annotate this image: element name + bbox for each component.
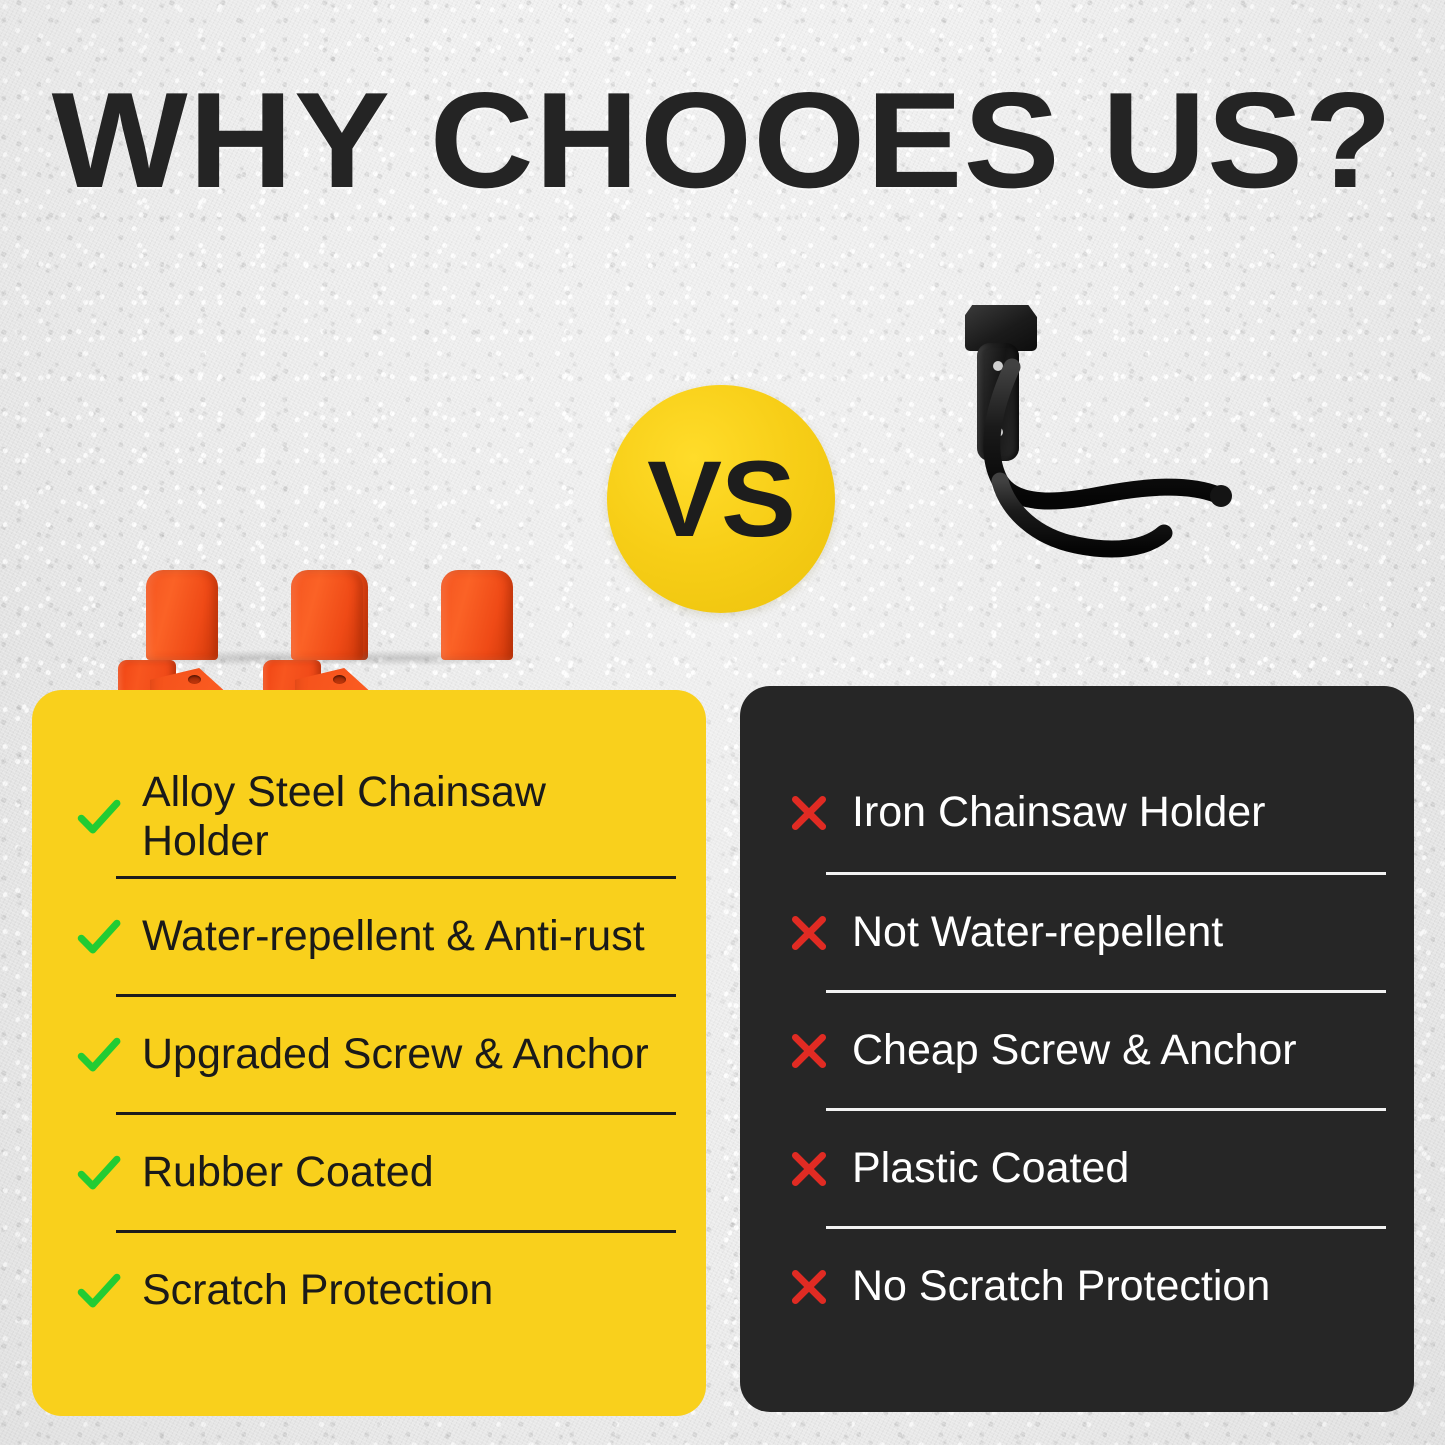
list-item: Plastic Coated bbox=[826, 1108, 1386, 1226]
list-item: Scratch Protection bbox=[116, 1230, 676, 1348]
list-item: Not Water-repellent bbox=[826, 872, 1386, 990]
check-icon bbox=[74, 792, 124, 842]
black-wire-hook bbox=[950, 305, 1270, 605]
vs-label: VS bbox=[647, 445, 795, 553]
list-item-label: Cheap Screw & Anchor bbox=[852, 1026, 1386, 1075]
check-icon bbox=[74, 1266, 124, 1316]
infographic-canvas: WHY CHOOES US? bbox=[0, 0, 1445, 1445]
list-item: Alloy Steel Chainsaw Holder bbox=[56, 758, 676, 876]
list-item: Upgraded Screw & Anchor bbox=[116, 994, 676, 1112]
list-item-label: Rubber Coated bbox=[142, 1148, 676, 1197]
mark-cell bbox=[766, 911, 852, 955]
cross-icon bbox=[787, 1029, 831, 1073]
cons-feature-list: Iron Chainsaw Holder Not Water-repellent… bbox=[766, 754, 1386, 1344]
list-item: Rubber Coated bbox=[116, 1112, 676, 1230]
check-icon bbox=[74, 912, 124, 962]
bracket-screw-hole bbox=[333, 675, 346, 684]
mark-cell bbox=[766, 791, 852, 835]
list-item-label: Scratch Protection bbox=[142, 1266, 676, 1315]
mark-cell bbox=[766, 1029, 852, 1073]
cross-icon bbox=[787, 791, 831, 835]
cross-icon bbox=[787, 911, 831, 955]
mark-cell bbox=[56, 1266, 142, 1316]
list-item: Water-repellent & Anti-rust bbox=[116, 876, 676, 994]
list-item: Cheap Screw & Anchor bbox=[826, 990, 1386, 1108]
list-item-label: Upgraded Screw & Anchor bbox=[142, 1030, 676, 1079]
mark-cell bbox=[56, 1030, 142, 1080]
list-item-label: Alloy Steel Chainsaw Holder bbox=[142, 768, 676, 866]
pros-panel: Alloy Steel Chainsaw Holder Water-repell… bbox=[32, 690, 706, 1416]
mark-cell bbox=[56, 792, 142, 842]
bracket-rubber-foot bbox=[146, 570, 218, 660]
list-item: Iron Chainsaw Holder bbox=[766, 754, 1386, 872]
pros-feature-list: Alloy Steel Chainsaw Holder Water-repell… bbox=[56, 758, 676, 1348]
cons-panel: Iron Chainsaw Holder Not Water-repellent… bbox=[740, 686, 1414, 1412]
mark-cell bbox=[56, 912, 142, 962]
list-item-label: Water-repellent & Anti-rust bbox=[142, 912, 676, 961]
cross-icon bbox=[787, 1147, 831, 1191]
mark-cell bbox=[766, 1147, 852, 1191]
bracket-rubber-foot bbox=[291, 570, 363, 660]
vs-badge: VS bbox=[607, 385, 835, 613]
mark-cell bbox=[56, 1148, 142, 1198]
mark-cell bbox=[766, 1265, 852, 1309]
check-icon bbox=[74, 1148, 124, 1198]
list-item-label: No Scratch Protection bbox=[852, 1262, 1386, 1311]
cross-icon bbox=[787, 1265, 831, 1309]
list-item-label: Not Water-repellent bbox=[852, 908, 1386, 957]
list-item-label: Iron Chainsaw Holder bbox=[852, 788, 1386, 837]
check-icon bbox=[74, 1030, 124, 1080]
list-item-label: Plastic Coated bbox=[852, 1144, 1386, 1193]
list-item: No Scratch Protection bbox=[826, 1226, 1386, 1344]
bracket-screw-hole bbox=[188, 675, 201, 684]
bracket-rubber-foot bbox=[441, 570, 513, 660]
page-title: WHY CHOOES US? bbox=[0, 72, 1445, 208]
hook-arms bbox=[950, 305, 1270, 605]
